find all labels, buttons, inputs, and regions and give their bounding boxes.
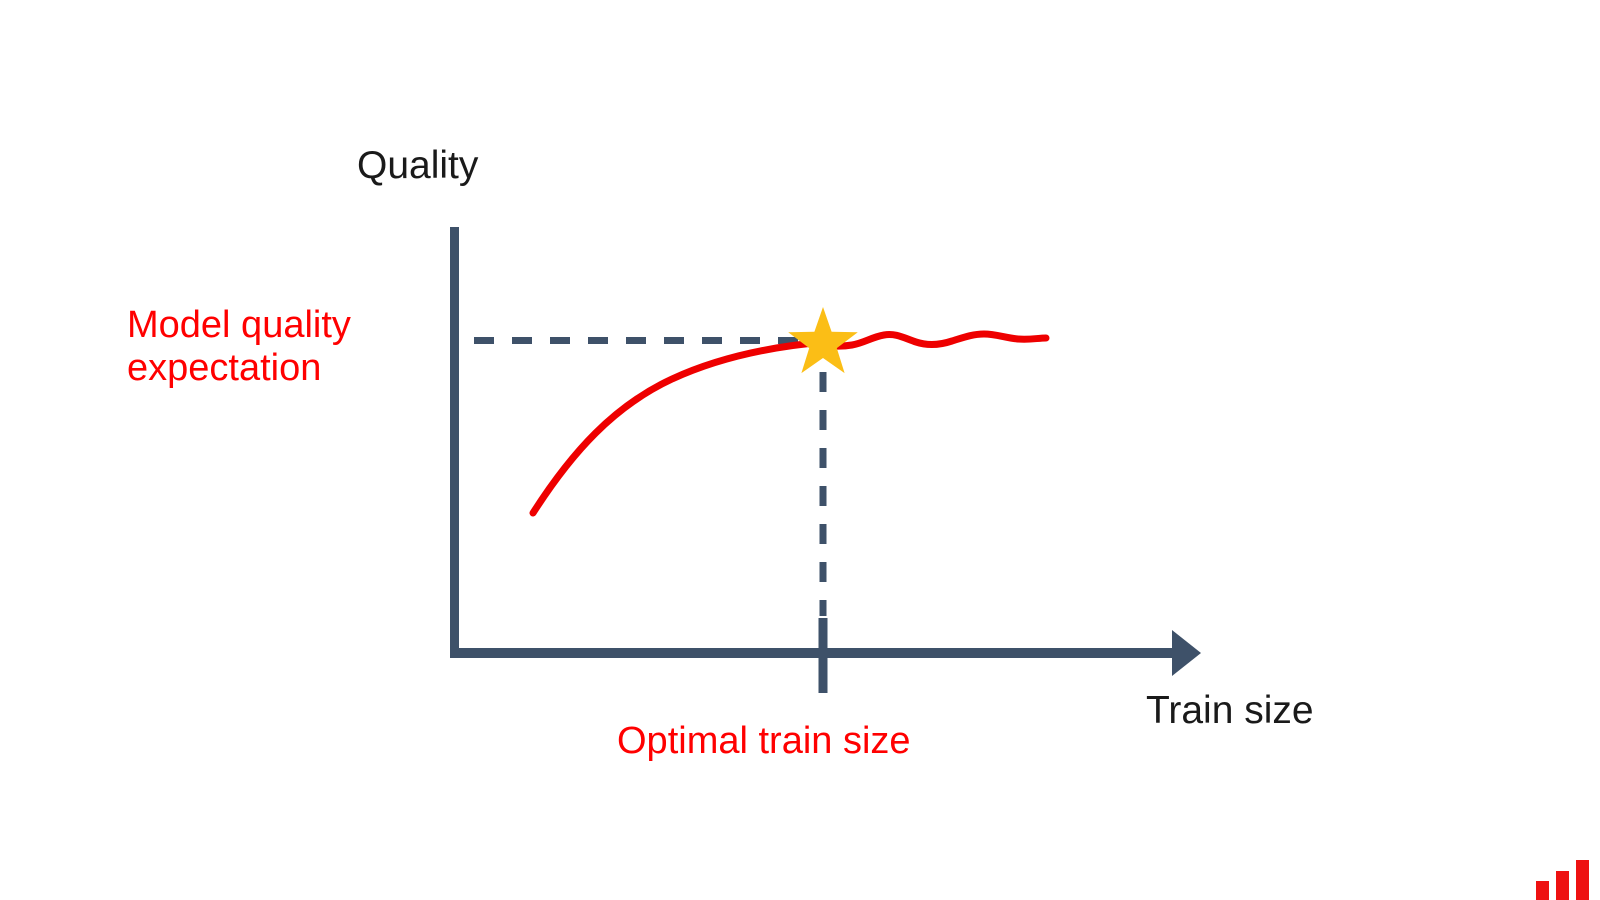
annotation-model-quality-line1: Model quality [127, 304, 351, 346]
logo-bar-3 [1576, 860, 1589, 900]
chart-graphics [0, 0, 1600, 900]
chart-canvas: Quality Train size Model qualityexpectat… [0, 0, 1600, 900]
annotation-model-quality-expectation: Model qualityexpectation [127, 304, 351, 389]
annotation-model-quality-line2: expectation [127, 347, 351, 390]
logo-bar-1 [1536, 881, 1549, 900]
axis-label-y: Quality [357, 144, 478, 188]
logo-bar-2 [1556, 871, 1569, 900]
optimal-point-star-icon [788, 307, 858, 373]
x-axis-arrowhead [1172, 630, 1201, 676]
annotation-optimal-train-size: Optimal train size [617, 720, 911, 763]
bar-chart-logo [1536, 858, 1600, 900]
learning-curve-rising [533, 342, 824, 513]
axis-label-x: Train size [1146, 689, 1314, 733]
